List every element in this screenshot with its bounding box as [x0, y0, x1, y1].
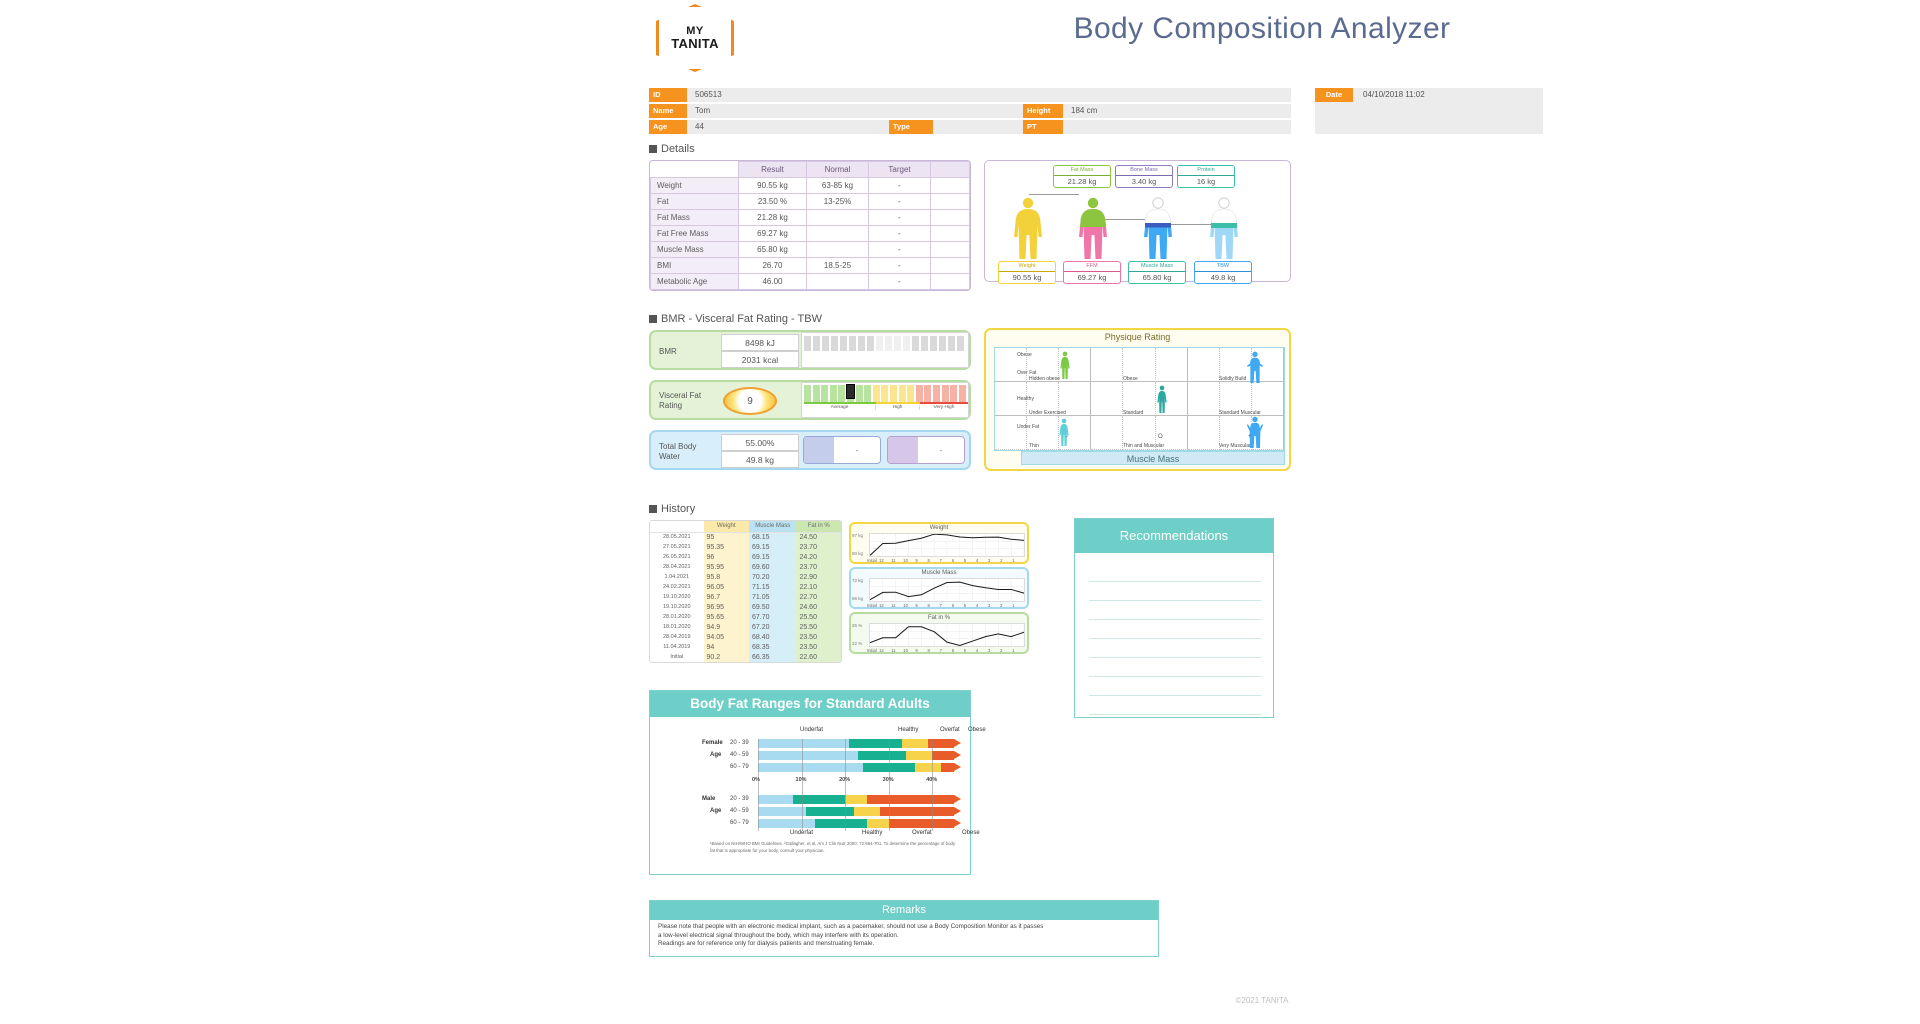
visceral-scale-segment	[942, 385, 949, 402]
recommendation-line	[1089, 714, 1261, 715]
details-row-result: 65.80 kg	[739, 242, 807, 258]
history-cell-date: 28.04.2019	[650, 632, 704, 642]
recommendation-line	[1089, 695, 1261, 696]
minichart-x-tick: 1	[1012, 558, 1014, 563]
history-cell-fat: 23.50	[796, 642, 841, 652]
figtag-fat-mass: Fat Mass21.28 kg	[1053, 165, 1111, 188]
bmr-bar-segment	[885, 336, 892, 351]
connector-line-1	[1029, 194, 1079, 195]
bullet-square-icon	[649, 145, 657, 153]
minichart-x-tick: Initial	[867, 558, 877, 563]
physique-cell	[1156, 348, 1188, 382]
minichart-x-tick: 12	[879, 603, 884, 608]
minichart-fat-ymax: 26 %	[852, 623, 862, 628]
details-row-extra	[931, 242, 970, 258]
bfr-gridline	[758, 739, 759, 831]
bmr-card: BMR 8498 kJ 2031 kcal	[649, 330, 971, 370]
bullet-square-icon	[649, 315, 657, 323]
figtag-tbw: TBW49.8 kg	[1194, 261, 1252, 284]
table-row: 24.02.202196.0571.1522.10	[650, 582, 841, 592]
minichart-muscle-ymin: 66 kg	[852, 596, 863, 601]
bfr-bar	[758, 807, 954, 816]
bmr-kj-value: 8498 kJ	[721, 334, 799, 351]
history-cell-weight: 96.95	[704, 602, 749, 612]
physique-grid: ObeseOver FatHealthyUnder FatHidden obes…	[994, 347, 1285, 451]
profile-strip: ID 506513 Name Tom Height 184 cm Age 44 …	[649, 88, 1291, 134]
physique-cell-label: Thin	[1029, 443, 1039, 449]
minichart-x-tick: 5	[964, 558, 966, 563]
history-col-fat: Fat in %	[796, 521, 841, 532]
details-row-extra	[931, 178, 970, 194]
name-value: Tom	[687, 104, 1023, 118]
bfr-arrow-icon	[954, 807, 961, 815]
bfr-segment-overfat	[906, 751, 932, 760]
bfr-age-range-label: 60 - 79	[730, 820, 749, 826]
bfr-zone-label-top: Healthy	[898, 727, 918, 733]
bfr-gridline	[932, 739, 933, 831]
bfr-gridline	[845, 739, 846, 831]
bullet-square-icon	[649, 505, 657, 513]
physique-title: Physique Rating	[986, 332, 1289, 342]
history-cell-fat: 24.60	[796, 602, 841, 612]
bfr-bar	[758, 819, 954, 828]
history-cell-weight: 95.65	[704, 612, 749, 622]
history-cell-fat: 23.50	[796, 632, 841, 642]
pt-label: PT	[1023, 120, 1063, 134]
recommendation-line	[1089, 638, 1261, 639]
history-cell-fat: 23.70	[796, 562, 841, 572]
table-row: 19.10.202096.9569.5024.60	[650, 602, 841, 612]
bfr-age-range-label: 20 - 39	[730, 796, 749, 802]
bmr-bar-segment	[876, 336, 883, 351]
history-cell-fat: 25.50	[796, 622, 841, 632]
visceral-fat-value: 9	[747, 396, 753, 407]
minichart-x-tick: 2	[1000, 603, 1002, 608]
header-filler-block	[1315, 102, 1543, 134]
bfr-zone-label-top: Underfat	[800, 727, 823, 733]
visceral-scale-segment	[881, 385, 888, 402]
physique-cell	[1091, 382, 1123, 416]
bfr-zone-label-top: Obese	[968, 727, 986, 733]
minichart-x-tick: 10	[903, 603, 908, 608]
physique-cell-label: Very Muscular	[1219, 443, 1251, 449]
bfr-arrow-icon	[954, 751, 961, 759]
remarks-line-2: a low-level electrical signal throughout…	[658, 932, 1152, 941]
visc-label-high: High	[876, 405, 920, 410]
remarks-line-1: Please note that people with an electron…	[658, 923, 1152, 932]
table-row: 1.04.202195.870.2022.90	[650, 572, 841, 582]
physique-person-icon	[1057, 418, 1071, 446]
bfr-axis-tick: 10%	[796, 777, 807, 783]
id-label: ID	[649, 88, 687, 102]
bfr-age-label: Age	[710, 808, 721, 814]
minichart-fat-ymin: 22 %	[852, 641, 862, 646]
table-row: Initial90.266.3522.60	[650, 652, 841, 662]
history-cell-date: 18.01.2020	[650, 622, 704, 632]
table-row: Fat23.50 %13-25%-	[651, 194, 970, 210]
details-row-normal	[807, 210, 869, 226]
minichart-x-tick: 8	[928, 603, 930, 608]
bfr-segment-overfat	[867, 819, 889, 828]
bfr-segment-overfat	[854, 807, 880, 816]
bfr-segment-underfat	[758, 751, 858, 760]
bfr-axis-tick: 0%	[752, 777, 760, 783]
minichart-x-tick: 9	[915, 603, 917, 608]
details-row-normal	[807, 226, 869, 242]
date-value: 04/10/2018 11:02	[1353, 88, 1543, 102]
history-cell-date: 19.10.2020	[650, 602, 704, 612]
details-col-result: Result	[739, 162, 807, 178]
bmr-bar-track	[801, 332, 969, 368]
details-row-label: Fat	[651, 194, 739, 210]
tbw-kg-value: 49.8 kg	[721, 451, 799, 468]
history-cell-muscle: 68.15	[749, 532, 796, 542]
minichart-x-tick: 7	[940, 603, 942, 608]
physique-rating-panel: Physique Rating Fat ObeseOver FatHealthy…	[984, 328, 1291, 471]
minichart-weight-ymax: 97 kg	[852, 533, 863, 538]
height-label: Height	[1023, 104, 1063, 118]
minichart-muscle-title: Muscle Mass	[851, 570, 1027, 576]
remarks-title: Remarks	[650, 901, 1158, 920]
details-table: Result Normal Target Weight90.55 kg63-85…	[649, 160, 971, 291]
minichart-weight-plot	[869, 533, 1025, 557]
physique-cell	[1091, 348, 1123, 382]
physique-muscle-axis-label: Muscle Mass	[1021, 451, 1285, 465]
minichart-x-tick: 4	[976, 558, 978, 563]
details-row-extra	[931, 210, 970, 226]
details-row-normal: 13-25%	[807, 194, 869, 210]
details-row-extra	[931, 274, 970, 290]
bfr-axis-tick: 40%	[926, 777, 937, 783]
bmr-bar-segment	[957, 336, 964, 351]
details-row-normal: 63-85 kg	[807, 178, 869, 194]
minichart-weight-title: Weight	[851, 525, 1027, 531]
pt-value	[1063, 120, 1291, 134]
details-row-target: -	[869, 194, 931, 210]
visceral-marker	[846, 384, 855, 399]
person-weight-icon	[1011, 197, 1045, 259]
bfr-bar	[758, 763, 954, 772]
history-cell-date: Initial	[650, 652, 704, 662]
minichart-x-tick: 3	[988, 558, 990, 563]
bmr-bar-segment	[912, 336, 919, 351]
history-cell-muscle: 66.35	[749, 652, 796, 662]
physique-cell	[1091, 416, 1123, 450]
visceral-scale-segment	[864, 385, 871, 402]
details-heading: Details	[649, 143, 695, 155]
visceral-scale-segment	[916, 385, 923, 402]
minichart-x-tick: Initial	[867, 648, 877, 653]
bfr-axis-tick: 30%	[883, 777, 894, 783]
minichart-x-tick: 4	[976, 603, 978, 608]
bfr-segment-obese	[932, 751, 954, 760]
history-cell-weight: 95.8	[704, 572, 749, 582]
minichart-x-tick: 5	[964, 603, 966, 608]
minichart-x-tick: 1	[1012, 648, 1014, 653]
details-row-result: 23.50 %	[739, 194, 807, 210]
physique-y-label: Obese	[1017, 352, 1032, 358]
visceral-scale-segment	[804, 385, 811, 402]
table-row: 19.10.202096.771.0522.70	[650, 592, 841, 602]
visceral-scale-segment	[890, 385, 897, 402]
profile-row-id: ID 506513	[649, 88, 1291, 102]
history-cell-weight: 95.35	[704, 542, 749, 552]
bfr-segment-underfat	[758, 795, 793, 804]
bmr-bar-segment	[903, 336, 910, 351]
details-row-target: -	[869, 242, 931, 258]
details-row-result: 69.27 kg	[739, 226, 807, 242]
bfr-zone-label-top: Overfat	[940, 727, 960, 733]
body-fat-ranges-footnote: ¹Based on NIH/WHO BMI Guidelines. ²Galla…	[710, 841, 960, 854]
bfr-age-range-label: 40 - 59	[730, 808, 749, 814]
minichart-muscle: Muscle Mass Initial121110987654321 72 kg…	[849, 567, 1029, 609]
date-label: Date	[1315, 88, 1353, 102]
minichart-x-tick: 12	[879, 558, 884, 563]
details-row-result: 21.28 kg	[739, 210, 807, 226]
details-row-label: Muscle Mass	[651, 242, 739, 258]
bfr-age-label: Age	[710, 752, 721, 758]
remarks-line-3: Readings are for reference only for dial…	[658, 940, 1152, 949]
details-row-label: Fat Mass	[651, 210, 739, 226]
age-value: 44	[687, 120, 789, 134]
visceral-scale-segment	[813, 385, 820, 402]
details-row-extra	[931, 258, 970, 274]
minichart-x-tick: 11	[891, 603, 895, 608]
history-cell-fat: 22.60	[796, 652, 841, 662]
bfr-age-range-label: 20 - 39	[730, 740, 749, 746]
physique-x-mark: O	[1158, 434, 1163, 440]
profile-row-name: Name Tom Height 184 cm	[649, 104, 1291, 118]
history-cell-date: 11.04.2019	[650, 642, 704, 652]
history-cell-muscle: 71.15	[749, 582, 796, 592]
visceral-scale-segment	[907, 385, 914, 402]
visceral-scale-segment	[950, 385, 957, 402]
minichart-x-tick: 9	[915, 558, 917, 563]
visceral-scale-segment	[924, 385, 931, 402]
minichart-fat-title: Fat in %	[851, 615, 1027, 621]
bfr-segment-obese	[889, 819, 954, 828]
profile-row-age: Age 44 Type PT	[649, 120, 1291, 134]
bfr-bar	[758, 739, 954, 748]
physique-cell	[995, 416, 1027, 450]
bfr-gridline	[802, 739, 803, 831]
table-row: 28.04.201994.0568.4023.50	[650, 632, 841, 642]
history-cell-muscle: 69.15	[749, 552, 796, 562]
page-title: Body Composition Analyzer	[604, 12, 1920, 46]
bfr-segment-healthy	[849, 739, 901, 748]
history-cell-fat: 24.50	[796, 532, 841, 542]
bfr-segment-underfat	[758, 739, 849, 748]
bmr-bar-segment	[921, 336, 928, 351]
details-row-normal	[807, 274, 869, 290]
history-cell-weight: 90.2	[704, 652, 749, 662]
table-row: BMI26.7018.5-25-	[651, 258, 970, 274]
details-row-target: -	[869, 210, 931, 226]
details-row-extra	[931, 226, 970, 242]
history-cell-date: 19.10.2020	[650, 592, 704, 602]
age-label: Age	[649, 120, 687, 134]
minichart-x-tick: 6	[952, 648, 954, 653]
bfr-gridline	[889, 739, 890, 831]
bmr-bar-segment	[822, 336, 829, 351]
minichart-weight-ymin: 90 kg	[852, 551, 863, 556]
history-cell-date: 27.05.2021	[650, 542, 704, 552]
physique-cell	[1188, 348, 1220, 382]
history-cell-fat: 22.70	[796, 592, 841, 602]
figtag-weight: Weight90.55 kg	[998, 261, 1056, 284]
details-row-normal: 18.5-25	[807, 258, 869, 274]
bfr-bar	[758, 751, 954, 760]
bmr-bar-segment	[858, 336, 865, 351]
recommendation-line	[1089, 676, 1261, 677]
table-row: 27.05.202195.3569.1523.70	[650, 542, 841, 552]
minichart-fat-plot	[869, 623, 1025, 647]
tbw-box-1: -	[803, 436, 881, 464]
bfr-segment-underfat	[758, 807, 806, 816]
history-cell-muscle: 71.05	[749, 592, 796, 602]
visc-avg-rule	[804, 402, 876, 404]
details-row-target: -	[869, 178, 931, 194]
type-label: Type	[889, 120, 933, 134]
physique-cell-label: Obese	[1123, 376, 1138, 382]
physique-y-label: Healthy	[1017, 396, 1034, 402]
table-row: 26.05.20219669.1524.20	[650, 552, 841, 562]
bfr-sex-label: Female	[702, 740, 723, 746]
visceral-scale-segment	[821, 385, 828, 402]
minichart-x-tick: 10	[903, 558, 908, 563]
visceral-scale-segment	[856, 385, 863, 402]
physique-person-icon	[1247, 416, 1263, 448]
report-header: MY TANITA Body Composition Analyzer	[604, 0, 1920, 72]
bfr-arrow-icon	[954, 819, 961, 827]
details-col-target: Target	[869, 162, 931, 178]
history-cell-muscle: 67.20	[749, 622, 796, 632]
bmr-bar-segment	[867, 336, 874, 351]
recommendations-panel: Recommendations	[1074, 518, 1274, 718]
physique-cell-label: Thin and Muscular	[1123, 443, 1164, 449]
history-cell-weight: 96.05	[704, 582, 749, 592]
visceral-scale-segment	[873, 385, 880, 402]
minichart-weight: Weight Initial121110987654321 97 kg 90 k…	[849, 522, 1029, 564]
bfr-age-range-label: 60 - 79	[730, 764, 749, 770]
details-row-result: 26.70	[739, 258, 807, 274]
recommendation-line	[1089, 657, 1261, 658]
figtag-protein: Protein16 kg	[1177, 165, 1235, 188]
physique-person-icon	[1155, 385, 1169, 413]
report-sheet: MY TANITA Body Composition Analyzer ID 5…	[604, 0, 1920, 1024]
minichart-muscle-ymax: 72 kg	[852, 578, 863, 583]
visceral-fat-label: Visceral Fat Rating	[659, 391, 719, 411]
history-cell-weight: 96	[704, 552, 749, 562]
history-cell-muscle: 68.40	[749, 632, 796, 642]
history-cell-weight: 96.7	[704, 592, 749, 602]
body-composition-figures: Fat Mass21.28 kg Bone Mass3.40 kg Protei…	[984, 160, 1291, 282]
visceral-scale-segment	[899, 385, 906, 402]
physique-cell-label: Standard	[1123, 410, 1143, 416]
bmr-bar-segment	[813, 336, 820, 351]
details-row-label: Weight	[651, 178, 739, 194]
visc-label-very-high: Very High	[920, 405, 968, 410]
history-cell-muscle: 70.20	[749, 572, 796, 582]
bmr-bar-segment	[849, 336, 856, 351]
date-field: Date 04/10/2018 11:02	[1315, 88, 1543, 102]
bfr-bar	[758, 795, 954, 804]
physique-cell-label: Hidden obese	[1029, 376, 1060, 382]
physique-cell	[1188, 382, 1220, 416]
body-fat-ranges-title: Body Fat Ranges for Standard Adults	[650, 691, 970, 717]
table-row: 11.04.20199468.3523.50	[650, 642, 841, 652]
body-fat-ranges-panel: Body Fat Ranges for Standard Adults Unde…	[649, 690, 971, 875]
bfr-segment-obese	[880, 807, 954, 816]
tbw-box-2: -	[887, 436, 965, 464]
bfr-segment-healthy	[806, 807, 854, 816]
minichart-x-tick: 4	[976, 648, 978, 653]
visceral-scale-segment	[959, 385, 966, 402]
history-cell-muscle: 69.15	[749, 542, 796, 552]
bfr-sex-label: Male	[702, 796, 715, 802]
remarks-panel: Remarks Please note that people with an …	[649, 900, 1159, 957]
history-cell-date: 28.05.2021	[650, 532, 704, 542]
bmr-bar-segment	[939, 336, 946, 351]
visc-label-average: Average	[804, 405, 876, 410]
history-heading: History	[649, 503, 695, 515]
table-row: 28.05.20219568.1524.50	[650, 532, 841, 542]
height-value: 184 cm	[1063, 104, 1291, 118]
details-col-4	[931, 162, 970, 178]
history-cell-fat: 22.90	[796, 572, 841, 582]
bfr-zone-label-bottom: Overfat	[912, 830, 932, 836]
minichart-x-tick: 10	[903, 648, 908, 653]
person-muscle-mass-icon	[1141, 197, 1175, 259]
history-cell-date: 26.05.2021	[650, 552, 704, 562]
history-col-weight: Weight	[704, 521, 749, 532]
details-row-target: -	[869, 274, 931, 290]
visceral-scale-segment	[830, 385, 837, 402]
bfr-zone-label-bottom: Underfat	[790, 830, 813, 836]
history-cell-date: 24.02.2021	[650, 582, 704, 592]
minichart-x-tick: 9	[915, 648, 917, 653]
minichart-x-tick: 11	[891, 558, 895, 563]
person-ffm-icon	[1076, 197, 1110, 259]
minichart-x-tick: 3	[988, 603, 990, 608]
history-cell-date: 1.04.2021	[650, 572, 704, 582]
bfr-arrow-icon	[954, 795, 961, 803]
age-spacer	[789, 120, 889, 134]
bfr-segment-overfat	[902, 739, 928, 748]
visceral-scale-segment	[933, 385, 940, 402]
bfr-arrow-icon	[954, 739, 961, 747]
physique-x-mark: +	[1248, 434, 1252, 440]
history-cell-fat: 24.20	[796, 552, 841, 562]
bfr-zone-label-bottom: Healthy	[862, 830, 882, 836]
details-row-target: -	[869, 226, 931, 242]
history-cell-weight: 94	[704, 642, 749, 652]
bmr-section-heading: BMR - Visceral Fat Rating - TBW	[649, 313, 822, 325]
bfr-segment-healthy	[858, 751, 906, 760]
table-row: 28.01.202095.6567.7025.50	[650, 612, 841, 622]
name-label: Name	[649, 104, 687, 118]
history-cell-muscle: 67.70	[749, 612, 796, 622]
minichart-x-tick: 12	[879, 648, 884, 653]
history-cell-fat: 25.50	[796, 612, 841, 622]
table-row: 28.04.202195.9569.6023.70	[650, 562, 841, 572]
minichart-x-tick: 7	[940, 648, 942, 653]
history-cell-weight: 95.95	[704, 562, 749, 572]
physique-y-label: Under Fat	[1017, 424, 1039, 430]
recommendation-line	[1089, 581, 1261, 582]
physique-cell-label: Under Exercised	[1029, 410, 1066, 416]
visceral-fat-gauge: 9	[723, 387, 777, 415]
